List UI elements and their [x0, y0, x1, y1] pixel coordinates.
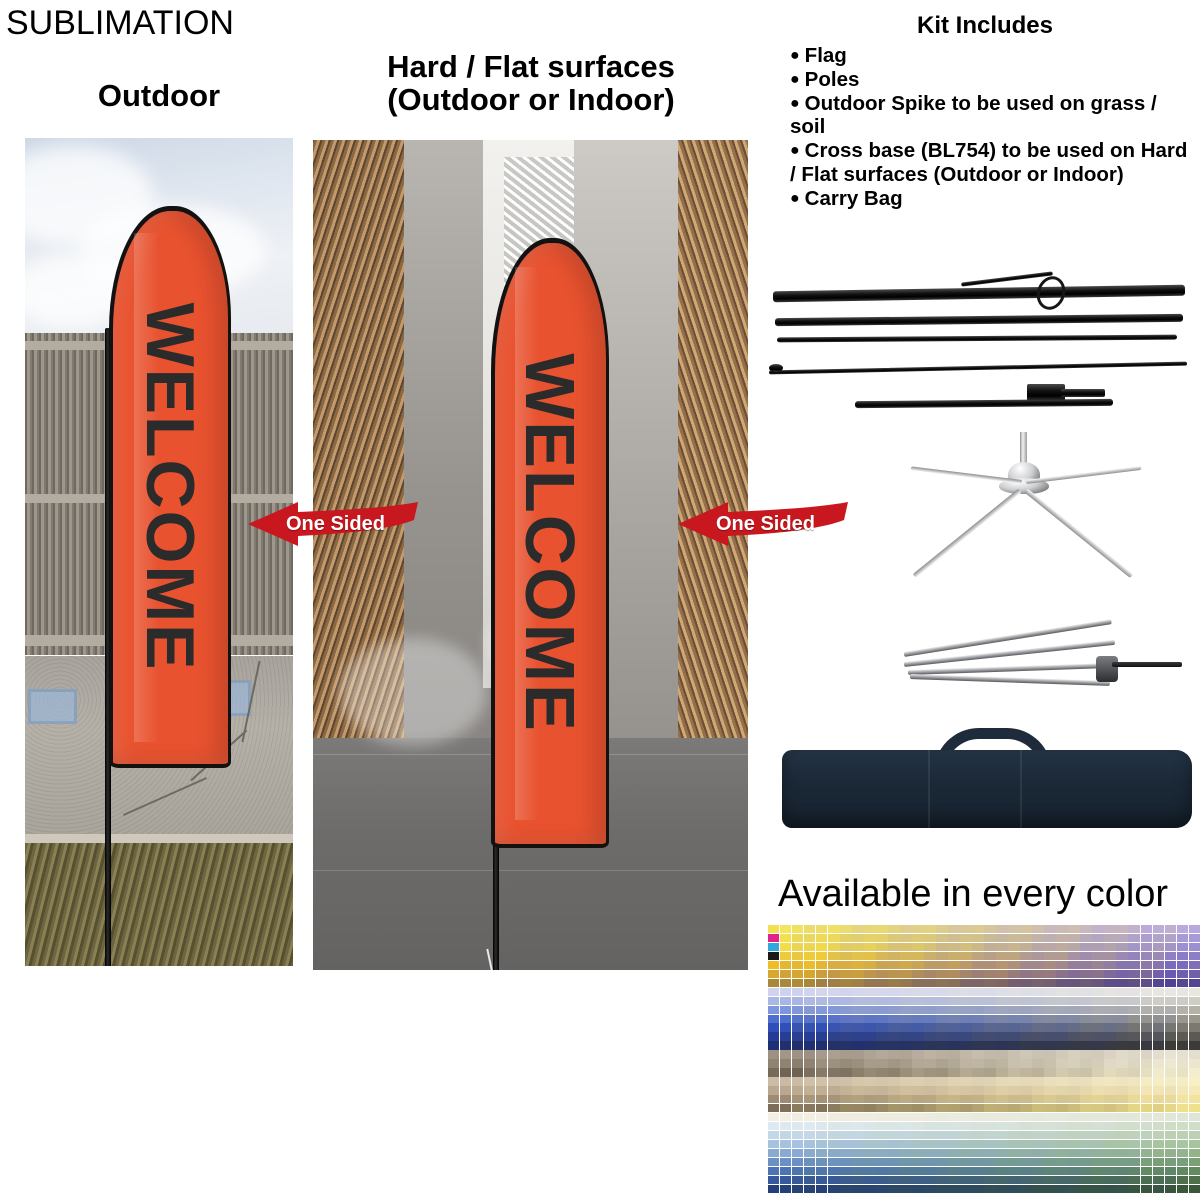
- color-swatch: [936, 1140, 947, 1148]
- color-swatch: [1189, 1095, 1200, 1103]
- color-swatch: [768, 988, 779, 996]
- color-swatch: [840, 1050, 851, 1058]
- color-swatch: [780, 934, 791, 942]
- color-swatch: [960, 1122, 971, 1130]
- color-swatch: [1020, 1015, 1031, 1023]
- color-swatch: [828, 1015, 839, 1023]
- color-swatch: [1153, 1131, 1164, 1139]
- color-swatch: [960, 1113, 971, 1121]
- color-swatch: [780, 979, 791, 987]
- color-swatch: [1056, 1050, 1067, 1058]
- color-swatch: [1153, 1140, 1164, 1148]
- color-swatch: [840, 925, 851, 933]
- color-swatch: [1056, 1122, 1067, 1130]
- color-swatch: [780, 1158, 791, 1166]
- color-swatch: [900, 961, 911, 969]
- color-swatch: [924, 997, 935, 1005]
- color-swatch: [1092, 1041, 1103, 1049]
- color-swatch: [816, 1006, 827, 1014]
- color-swatch: [960, 1032, 971, 1040]
- color-swatch: [996, 943, 1007, 951]
- color-swatch: [1153, 943, 1164, 951]
- color-swatch: [876, 1149, 887, 1157]
- color-swatch: [1008, 1113, 1019, 1121]
- color-marker-cyan: [768, 943, 779, 951]
- color-swatch: [984, 979, 995, 987]
- color-swatch: [1177, 1113, 1188, 1121]
- color-swatch: [1008, 970, 1019, 978]
- color-swatch: [1008, 1167, 1019, 1175]
- color-swatch: [960, 1131, 971, 1139]
- color-swatch: [984, 934, 995, 942]
- color-swatch: [828, 1104, 839, 1112]
- color-swatch: [1128, 1023, 1139, 1031]
- color-swatch: [1116, 1158, 1127, 1166]
- color-swatch: [792, 961, 803, 969]
- color-swatch: [840, 1032, 851, 1040]
- color-swatch: [1056, 988, 1067, 996]
- color-swatch: [1092, 970, 1103, 978]
- color-swatch: [996, 1113, 1007, 1121]
- color-swatch: [1153, 1015, 1164, 1023]
- color-swatch: [912, 1077, 923, 1085]
- color-swatch: [1032, 997, 1043, 1005]
- color-swatch: [984, 1041, 995, 1049]
- color-swatch: [852, 1113, 863, 1121]
- color-swatch: [984, 970, 995, 978]
- color-swatch: [804, 961, 815, 969]
- color-swatch: [840, 970, 851, 978]
- color-swatch: [1177, 1006, 1188, 1014]
- color-swatch: [840, 1023, 851, 1031]
- color-swatch: [1056, 961, 1067, 969]
- color-swatch: [780, 925, 791, 933]
- color-swatch: [1116, 961, 1127, 969]
- color-swatch: [1056, 1113, 1067, 1121]
- color-swatch: [912, 997, 923, 1005]
- color-swatch: [1141, 1176, 1152, 1184]
- color-swatch: [1177, 961, 1188, 969]
- color-swatch: [1165, 1015, 1176, 1023]
- color-swatch: [792, 1158, 803, 1166]
- color-swatch: [816, 1059, 827, 1067]
- color-swatch: [864, 1059, 875, 1067]
- color-swatch: [768, 1032, 779, 1040]
- color-swatch: [780, 1032, 791, 1040]
- color-swatch: [924, 1176, 935, 1184]
- color-swatch: [888, 1149, 899, 1157]
- color-swatch: [1068, 1185, 1079, 1193]
- color-swatch: [1080, 1041, 1091, 1049]
- color-swatch: [1056, 952, 1067, 960]
- color-swatch: [1104, 1015, 1115, 1023]
- color-swatch: [1128, 1050, 1139, 1058]
- color-swatch: [852, 1104, 863, 1112]
- color-swatch: [792, 1086, 803, 1094]
- color-swatch: [1189, 1140, 1200, 1148]
- color-swatch: [936, 970, 947, 978]
- color-swatch: [888, 1059, 899, 1067]
- color-swatch: [816, 1050, 827, 1058]
- color-swatch: [1068, 988, 1079, 996]
- color-swatch: [888, 1068, 899, 1076]
- color-swatch: [840, 1113, 851, 1121]
- color-swatch: [876, 934, 887, 942]
- color-swatch: [1104, 934, 1115, 942]
- color-swatch: [792, 1095, 803, 1103]
- color-swatch: [948, 1032, 959, 1040]
- color-swatch: [996, 1131, 1007, 1139]
- color-swatch: [924, 1095, 935, 1103]
- color-swatch: [972, 1077, 983, 1085]
- color-swatch: [1177, 1068, 1188, 1076]
- color-swatch: [1020, 1158, 1031, 1166]
- color-swatch: [816, 1023, 827, 1031]
- color-swatch: [804, 1122, 815, 1130]
- color-swatch: [852, 1050, 863, 1058]
- color-swatch: [1056, 1140, 1067, 1148]
- color-swatch: [912, 943, 923, 951]
- list-item-label: Poles: [805, 68, 860, 91]
- color-swatch: [828, 1131, 839, 1139]
- color-swatch: [840, 1185, 851, 1193]
- list-item-label: Carry Bag: [805, 187, 903, 210]
- color-swatch: [972, 997, 983, 1005]
- color-swatch: [816, 970, 827, 978]
- color-swatch: [1189, 1041, 1200, 1049]
- color-swatch: [1141, 979, 1152, 987]
- color-swatch: [840, 1140, 851, 1148]
- color-swatch: [948, 1104, 959, 1112]
- color-swatch: [888, 1006, 899, 1014]
- color-swatch: [864, 952, 875, 960]
- color-swatch: [1008, 1158, 1019, 1166]
- color-swatch: [1056, 979, 1067, 987]
- color-swatch: [1068, 1059, 1079, 1067]
- color-swatch: [900, 1041, 911, 1049]
- color-swatch: [1153, 1095, 1164, 1103]
- color-swatch: [1092, 1068, 1103, 1076]
- color-swatch: [948, 925, 959, 933]
- color-swatch: [1008, 943, 1019, 951]
- color-swatch: [792, 1167, 803, 1175]
- color-swatch: [996, 1185, 1007, 1193]
- color-swatch: [888, 1104, 899, 1112]
- color-swatch: [1104, 1077, 1115, 1085]
- color-swatch: [840, 1158, 851, 1166]
- color-swatch: [1032, 1131, 1043, 1139]
- color-swatch: [912, 1068, 923, 1076]
- color-swatch: [1020, 1068, 1031, 1076]
- flag-welcome-text: WELCOME: [510, 258, 590, 828]
- color-swatch: [1104, 961, 1115, 969]
- color-swatch: [804, 1041, 815, 1049]
- color-swatch: [912, 1167, 923, 1175]
- color-swatch: [1177, 1050, 1188, 1058]
- color-swatch: [1008, 1006, 1019, 1014]
- color-swatch: [984, 961, 995, 969]
- color-swatch: [1044, 1059, 1055, 1067]
- color-swatch: [1092, 1015, 1103, 1023]
- color-swatch: [1068, 1015, 1079, 1023]
- color-swatch: [1068, 979, 1079, 987]
- color-swatch: [900, 1113, 911, 1121]
- color-swatch: [1032, 1032, 1043, 1040]
- color-swatch: [924, 1015, 935, 1023]
- color-swatch: [1032, 970, 1043, 978]
- outdoor-section-heading: Outdoor: [25, 80, 293, 111]
- color-swatch: [1104, 952, 1115, 960]
- base-leg-lower-left: [913, 489, 1022, 578]
- handicap-marking: [28, 689, 77, 724]
- color-swatch: [1080, 961, 1091, 969]
- color-swatch: [1032, 1167, 1043, 1175]
- color-swatch: [1092, 979, 1103, 987]
- color-swatch: [1141, 1059, 1152, 1067]
- color-swatch: [960, 1158, 971, 1166]
- color-swatch: [1020, 970, 1031, 978]
- color-swatch: [1189, 952, 1200, 960]
- color-swatch: [960, 1086, 971, 1094]
- color-swatch: [948, 1122, 959, 1130]
- color-swatch: [1165, 1086, 1176, 1094]
- color-swatch: [792, 943, 803, 951]
- base-leg-upper-left: [1026, 466, 1142, 484]
- color-swatch: [960, 1059, 971, 1067]
- color-swatch: [768, 970, 779, 978]
- color-swatch: [816, 1086, 827, 1094]
- color-swatch: [1116, 997, 1127, 1005]
- color-swatch: [804, 1059, 815, 1067]
- color-swatch: [792, 1104, 803, 1112]
- color-swatch: [1092, 1158, 1103, 1166]
- color-swatch: [780, 1068, 791, 1076]
- folded-stem: [1112, 662, 1182, 667]
- color-swatch: [852, 970, 863, 978]
- color-swatch: [792, 934, 803, 942]
- available-colors-heading: Available in every color: [778, 875, 1168, 913]
- bullet-icon: ●: [790, 190, 800, 207]
- color-swatch: [780, 1113, 791, 1121]
- color-swatch: [864, 1131, 875, 1139]
- color-swatch: [1177, 1059, 1188, 1067]
- color-swatch: [792, 952, 803, 960]
- color-swatch: [996, 970, 1007, 978]
- color-swatch: [1008, 934, 1019, 942]
- color-swatch: [1008, 1077, 1019, 1085]
- color-swatch: [1177, 1140, 1188, 1148]
- color-swatch: [924, 1006, 935, 1014]
- color-swatch: [1044, 952, 1055, 960]
- color-swatch: [828, 1140, 839, 1148]
- color-swatch: [972, 988, 983, 996]
- color-swatch: [924, 988, 935, 996]
- color-swatch: [1128, 1006, 1139, 1014]
- color-swatch: [1068, 1086, 1079, 1094]
- color-swatch: [960, 1050, 971, 1058]
- color-swatch: [1032, 1050, 1043, 1058]
- color-swatch: [804, 1149, 815, 1157]
- color-swatch: [816, 925, 827, 933]
- color-swatch: [1020, 1059, 1031, 1067]
- color-swatch: [792, 988, 803, 996]
- color-swatch: [1141, 1050, 1152, 1058]
- color-swatch: [1044, 988, 1055, 996]
- color-swatch: [936, 1104, 947, 1112]
- color-swatch: [1080, 952, 1091, 960]
- color-swatch: [972, 1140, 983, 1148]
- color-swatch: [1020, 934, 1031, 942]
- color-swatch: [804, 1077, 815, 1085]
- color-swatch: [900, 1149, 911, 1157]
- color-swatch: [792, 1050, 803, 1058]
- color-swatch: [1080, 997, 1091, 1005]
- color-swatch: [1068, 1068, 1079, 1076]
- color-swatch: [1116, 988, 1127, 996]
- color-swatch: [852, 1158, 863, 1166]
- color-swatch: [948, 1113, 959, 1121]
- color-swatch: [936, 979, 947, 987]
- color-swatch: [1153, 988, 1164, 996]
- color-swatch: [804, 1015, 815, 1023]
- color-swatch: [888, 1050, 899, 1058]
- color-swatch: [828, 943, 839, 951]
- color-swatch: [1008, 997, 1019, 1005]
- color-swatch: [972, 1104, 983, 1112]
- color-swatch: [1104, 988, 1115, 996]
- kit-includes-list: ●Flag ●Poles ●Outdoor Spike to be used o…: [790, 44, 1190, 210]
- color-swatch: [984, 1122, 995, 1130]
- color-swatch: [1008, 1095, 1019, 1103]
- color-swatch: [780, 988, 791, 996]
- base-leg-lower-right: [1024, 489, 1133, 578]
- color-swatch: [1153, 1122, 1164, 1130]
- color-swatch: [960, 925, 971, 933]
- color-swatch: [852, 1131, 863, 1139]
- color-swatch: [984, 1050, 995, 1058]
- color-swatch: [924, 934, 935, 942]
- color-swatch: [1116, 1122, 1127, 1130]
- color-swatch: [888, 961, 899, 969]
- color-swatch: [972, 1041, 983, 1049]
- color-swatch: [1141, 1006, 1152, 1014]
- color-swatch: [768, 1185, 779, 1193]
- color-swatch: [1032, 1068, 1043, 1076]
- color-swatch: [1044, 1149, 1055, 1157]
- color-swatch: [768, 1149, 779, 1157]
- color-swatch: [1080, 925, 1091, 933]
- color-swatch: [780, 952, 791, 960]
- color-swatch: [1165, 1158, 1176, 1166]
- color-marker-black: [768, 952, 779, 960]
- color-swatch: [1020, 1050, 1031, 1058]
- color-swatch: [1104, 1095, 1115, 1103]
- color-swatch: [852, 1059, 863, 1067]
- color-swatch: [1044, 934, 1055, 942]
- color-swatch: [1020, 979, 1031, 987]
- color-swatch: [780, 1122, 791, 1130]
- color-swatch: [828, 988, 839, 996]
- color-swatch: [1068, 943, 1079, 951]
- color-swatch: [780, 1185, 791, 1193]
- color-swatch: [888, 1086, 899, 1094]
- color-swatch: [840, 1167, 851, 1175]
- color-swatch: [780, 1095, 791, 1103]
- list-item-label: Cross base (BL754) to be used on Hard / …: [790, 139, 1187, 186]
- color-swatch: [780, 1131, 791, 1139]
- color-swatch: [1165, 934, 1176, 942]
- color-swatch: [1032, 1006, 1043, 1014]
- color-swatch: [828, 1167, 839, 1175]
- color-swatch: [852, 997, 863, 1005]
- color-swatch: [816, 997, 827, 1005]
- color-swatch: [1128, 1176, 1139, 1184]
- color-swatch: [852, 1176, 863, 1184]
- color-swatch: [852, 1015, 863, 1023]
- color-swatch: [1020, 961, 1031, 969]
- color-swatch: [936, 997, 947, 1005]
- color-swatch: [780, 943, 791, 951]
- color-swatch: [1092, 1050, 1103, 1058]
- color-swatch: [828, 1077, 839, 1085]
- color-swatch: [1165, 925, 1176, 933]
- color-swatch: [768, 1077, 779, 1085]
- color-swatch: [972, 1086, 983, 1094]
- color-swatch: [900, 1158, 911, 1166]
- color-swatch: [1141, 1104, 1152, 1112]
- color-swatch: [924, 1185, 935, 1193]
- color-swatch: [1165, 961, 1176, 969]
- color-swatch: [984, 1176, 995, 1184]
- color-swatch: [924, 1149, 935, 1157]
- color-swatch: [936, 1041, 947, 1049]
- color-swatch: [840, 1077, 851, 1085]
- color-swatch: [792, 1185, 803, 1193]
- kit-includes-heading: Kit Includes: [770, 12, 1200, 40]
- color-swatch: [828, 1032, 839, 1040]
- color-swatch: [1189, 970, 1200, 978]
- color-swatch: [912, 1023, 923, 1031]
- color-swatch: [1116, 925, 1127, 933]
- color-swatch: [876, 952, 887, 960]
- color-swatch: [1165, 1167, 1176, 1175]
- color-marker-yellow: [768, 925, 779, 933]
- color-swatch: [1008, 1086, 1019, 1094]
- color-swatch: [1008, 1015, 1019, 1023]
- color-swatch: [984, 1086, 995, 1094]
- color-swatch: [768, 1113, 779, 1121]
- color-swatch: [780, 1140, 791, 1148]
- color-swatch: [1008, 1059, 1019, 1067]
- color-swatch: [780, 1015, 791, 1023]
- color-swatch: [1177, 997, 1188, 1005]
- color-swatch: [840, 943, 851, 951]
- color-swatch: [1044, 1050, 1055, 1058]
- color-swatch: [1044, 1015, 1055, 1023]
- color-swatch: [1032, 1158, 1043, 1166]
- color-swatch: [972, 970, 983, 978]
- color-swatch: [864, 934, 875, 942]
- color-swatch: [1044, 1104, 1055, 1112]
- color-swatch: [1116, 1050, 1127, 1058]
- color-swatch: [1044, 1095, 1055, 1103]
- color-swatch: [852, 934, 863, 942]
- color-swatch: [840, 1122, 851, 1130]
- color-swatch: [1068, 1113, 1079, 1121]
- color-swatch: [996, 988, 1007, 996]
- color-swatch: [1044, 1176, 1055, 1184]
- color-swatch: [804, 1104, 815, 1112]
